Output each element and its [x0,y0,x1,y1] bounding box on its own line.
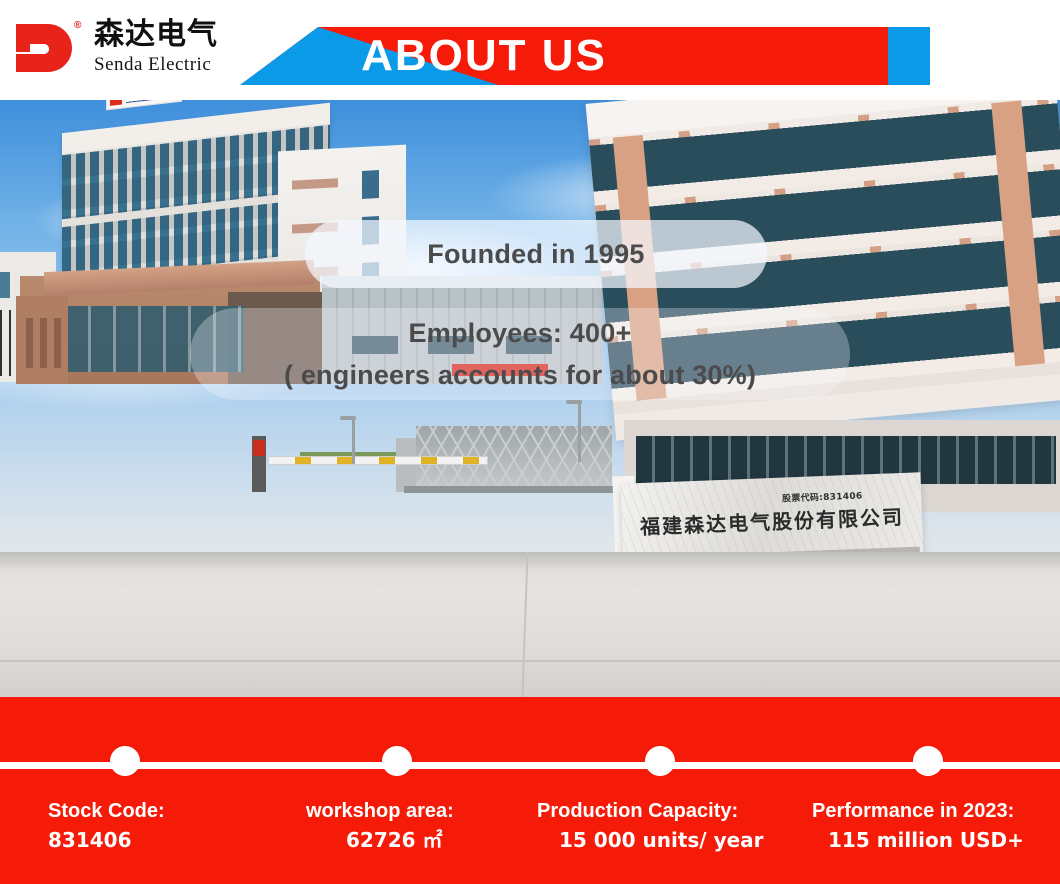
street-lamp [578,400,581,462]
founded-pill: Founded in 1995 [305,220,767,288]
timeline-rule [0,762,1060,769]
timeline-dot [110,746,140,776]
stat-label: Production Capacity: [537,797,764,826]
stat-production-capacity: Production Capacity: 15 000 units/ year [537,797,764,855]
stat-value: 115 million USD+ [812,826,1024,855]
page-header: ® 森达电气 Senda Electric ABOUT US [0,0,1060,100]
employees-pill: Employees: 400+ ( engineers accounts for… [190,308,850,400]
founded-text: Founded in 1995 [427,239,645,270]
stat-workshop-area: workshop area: 62726 ㎡ [306,797,454,855]
entrance-side-wall [16,296,68,384]
stat-value: 15 000 units/ year [537,826,764,855]
page-title: ABOUT US [0,27,888,85]
stat-value: 831406 [48,826,165,855]
pavement-shadow [0,552,1060,570]
stat-value: 62726 ㎡ [306,826,454,855]
employees-line-2: ( engineers accounts for about 30%) [284,354,756,396]
stat-label: Performance in 2023: [812,797,1024,826]
stat-stock-code: Stock Code: 831406 [48,797,165,855]
street-lamp [352,416,355,464]
factory-photo: 股票代码:831406 福建森达电气股份有限公司 Founded in 1995… [0,100,1060,697]
stats-footer: Stock Code: 831406 workshop area: 62726 … [0,697,1060,884]
title-bar-blue-block [888,27,930,85]
gate-rail [404,486,620,493]
gate-motor-box [396,438,416,492]
timeline-dot [382,746,412,776]
barrier-post [252,436,266,492]
boom-barrier [268,456,488,465]
timeline-dot [913,746,943,776]
title-bar: ABOUT US [0,27,1060,85]
stat-label: Stock Code: [48,797,165,826]
timeline-dot [645,746,675,776]
stat-label: workshop area: [306,797,454,826]
stat-performance-2023: Performance in 2023: 115 million USD+ [812,797,1024,855]
employees-line-1: Employees: 400+ [409,312,632,354]
pavement [0,552,1060,697]
about-us-banner: ® 森达电气 Senda Electric ABOUT US [0,0,1060,884]
